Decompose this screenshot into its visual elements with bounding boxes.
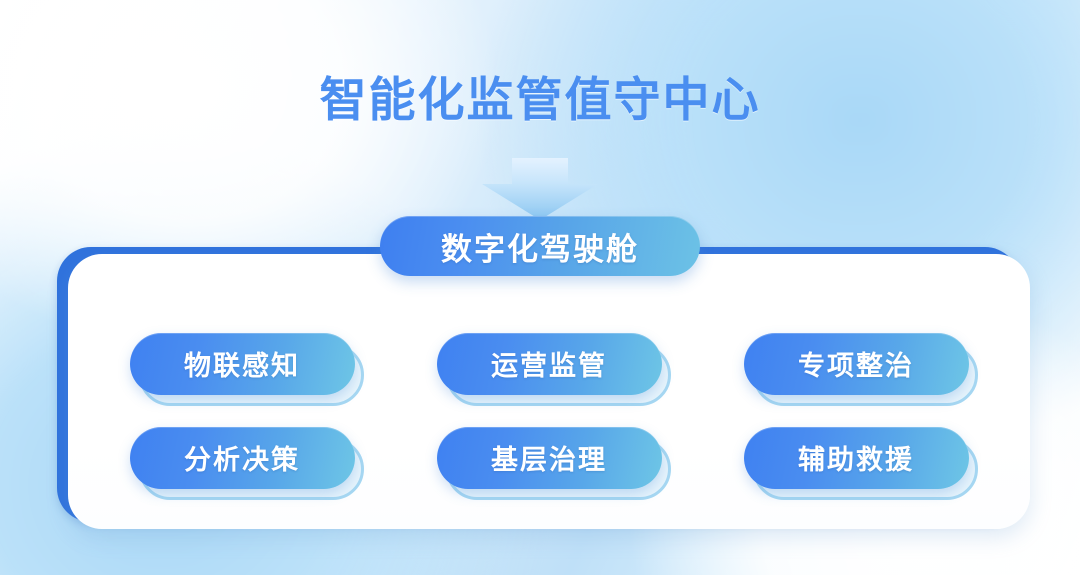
module-label: 基层治理 <box>491 438 607 477</box>
module-label: 分析决策 <box>184 438 300 477</box>
module-item-wulian-ganzhi[interactable]: 物联感知 <box>130 333 355 395</box>
module-pill[interactable]: 辅助救援 <box>744 427 969 489</box>
module-pill[interactable]: 分析决策 <box>130 427 355 489</box>
arrow-down-icon <box>482 158 598 220</box>
module-label: 辅助救援 <box>798 438 914 477</box>
module-item-zhuanxiang-zhengzhi[interactable]: 专项整治 <box>744 333 969 395</box>
cockpit-label: 数字化驾驶舱 <box>441 224 639 269</box>
module-item-jiceng-zhili[interactable]: 基层治理 <box>437 427 662 489</box>
cockpit-node[interactable]: 数字化驾驶舱 <box>380 216 700 276</box>
module-label: 物联感知 <box>184 344 300 383</box>
module-pill[interactable]: 专项整治 <box>744 333 969 395</box>
page-title: 智能化监管值守中心 <box>0 72 1080 128</box>
module-label: 专项整治 <box>798 344 914 383</box>
module-grid: 物联感知 运营监管 专项整治 分析决策 基层治理 <box>68 254 1030 529</box>
module-pill[interactable]: 基层治理 <box>437 427 662 489</box>
module-item-yunying-jianguan[interactable]: 运营监管 <box>437 333 662 395</box>
module-item-fuzhu-jiuyuan[interactable]: 辅助救援 <box>744 427 969 489</box>
diagram-canvas: 智能化监管值守中心 物联感知 运营监管 <box>0 0 1080 575</box>
module-pill[interactable]: 物联感知 <box>130 333 355 395</box>
module-item-fenxi-juece[interactable]: 分析决策 <box>130 427 355 489</box>
module-pill[interactable]: 运营监管 <box>437 333 662 395</box>
module-label: 运营监管 <box>491 344 607 383</box>
